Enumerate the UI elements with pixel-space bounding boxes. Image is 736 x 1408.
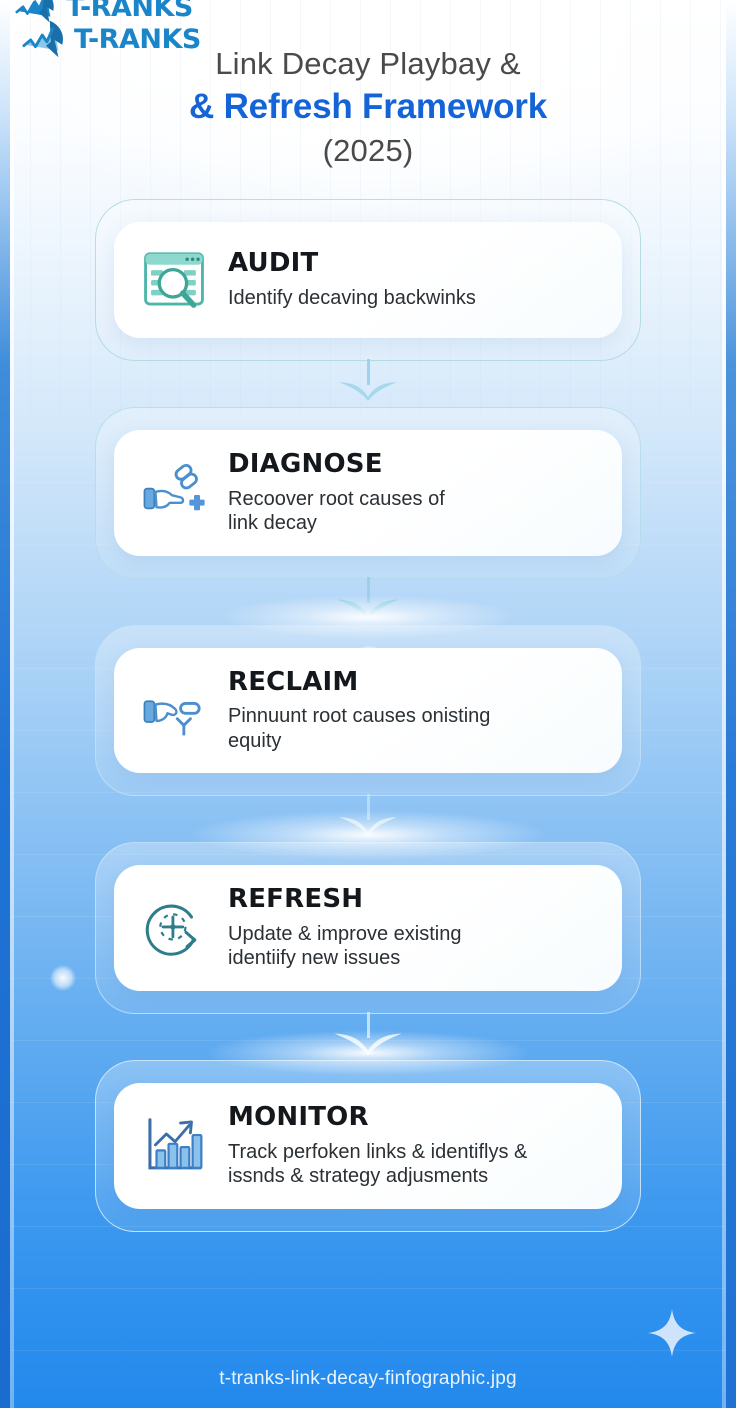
brand-wordmark: T-RANKS xyxy=(74,24,201,55)
step-text: DIAGNOSE Recoover root causes of link de… xyxy=(228,450,600,536)
footer-filename: t-tranks-link-decay-finfographic.jpg xyxy=(0,1368,736,1390)
step-diagnose[interactable]: DIAGNOSE Recoover root causes of link de… xyxy=(0,407,736,579)
step-shell: MONITOR Track perfoken links & identifly… xyxy=(95,1060,641,1232)
step-title: DIAGNOSE xyxy=(228,450,600,480)
connector-arrow xyxy=(0,579,736,625)
step-text: RECLAIM Pinnuunt root causes onisting eq… xyxy=(228,668,600,754)
step-card[interactable]: DIAGNOSE Recoover root causes of link de… xyxy=(114,430,622,556)
connector-arrow xyxy=(0,1014,736,1060)
step-title: MONITOR xyxy=(228,1103,600,1133)
step-text: REFRESH Update & improve existing identi… xyxy=(228,885,600,971)
connector-arrow xyxy=(0,361,736,407)
step-title: REFRESH xyxy=(228,885,600,915)
brand-logo[interactable]: T-RANKS xyxy=(22,16,201,62)
step-shell: DIAGNOSE Recoover root causes of link de… xyxy=(95,407,641,579)
down-arrow-icon xyxy=(333,596,403,622)
four-point-star-icon xyxy=(646,1307,698,1364)
step-title: AUDIT xyxy=(228,249,600,279)
step-shell: REFRESH Update & improve existing identi… xyxy=(95,842,641,1014)
connector-arrow xyxy=(0,796,736,842)
step-card[interactable]: REFRESH Update & improve existing identi… xyxy=(114,865,622,991)
step-description: Update & improve existing identiify new … xyxy=(228,922,600,971)
hand-link-plus-icon xyxy=(136,455,212,531)
step-description: Pinnuunt root causes onisting equity xyxy=(228,704,600,753)
step-text: AUDIT Identify decaving backwinks xyxy=(228,249,600,310)
refresh-target-icon xyxy=(136,890,212,966)
step-text: MONITOR Track perfoken links & identifly… xyxy=(228,1103,600,1189)
down-arrow-icon xyxy=(337,379,399,403)
step-description: Recoover root causes of link decay xyxy=(228,487,600,536)
down-arrow-icon xyxy=(336,814,400,838)
step-card[interactable]: MONITOR Track perfoken links & identifly… xyxy=(114,1083,622,1209)
steps-flow: AUDIT Identify decaving backwinks xyxy=(0,199,736,1232)
step-refresh[interactable]: REFRESH Update & improve existing identi… xyxy=(0,842,736,1014)
step-description: Track perfoken links & identiflys & issn… xyxy=(228,1140,600,1189)
infographic-poster: T-RANKS T-RANKS Link Decay Playbay & & R… xyxy=(0,0,736,1408)
step-card[interactable]: RECLAIM Pinnuunt root causes onisting eq… xyxy=(114,648,622,774)
step-shell: RECLAIM Pinnuunt root causes onisting eq… xyxy=(95,625,641,797)
step-title: RECLAIM xyxy=(228,668,600,698)
magnifier-table-audit-icon xyxy=(136,242,212,318)
down-arrow-icon xyxy=(332,1030,404,1058)
step-shell: AUDIT Identify decaving backwinks xyxy=(95,199,641,361)
trank-arrow-logo-icon xyxy=(22,16,68,62)
bar-chart-growth-icon xyxy=(136,1108,212,1184)
title-line-2: & Refresh Framework xyxy=(0,84,736,131)
step-monitor[interactable]: MONITOR Track perfoken links & identifly… xyxy=(0,1060,736,1232)
step-reclaim[interactable]: RECLAIM Pinnuunt root causes onisting eq… xyxy=(0,625,736,797)
step-card[interactable]: AUDIT Identify decaving backwinks xyxy=(114,222,622,338)
hand-reclaim-link-icon xyxy=(136,672,212,748)
step-audit[interactable]: AUDIT Identify decaving backwinks xyxy=(0,199,736,361)
title-line-3: (2025) xyxy=(0,131,736,171)
step-description: Identify decaving backwinks xyxy=(228,286,600,310)
